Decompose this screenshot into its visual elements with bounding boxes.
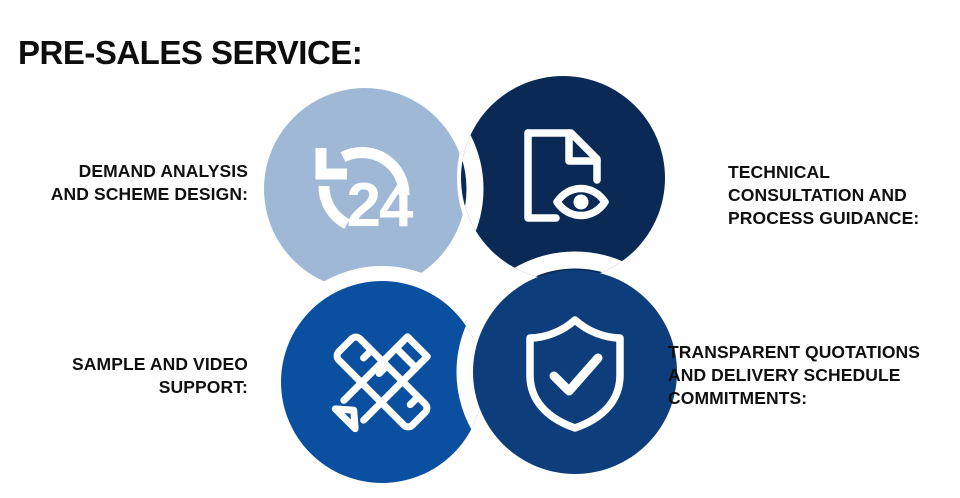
circle-transparent-quotations-shape [473, 270, 677, 474]
circle-transparent-quotations[interactable] [473, 270, 677, 474]
svg-text:24: 24 [347, 171, 414, 240]
label-transparent-quotations: TRANSPARENT QUOTATIONS AND DELIVERY SCHE… [668, 341, 960, 410]
label-technical-consultation: TECHNICAL CONSULTATION AND PROCESS GUIDA… [728, 161, 960, 230]
label-sample-video-support: SAMPLE AND VIDEO SUPPORT: [0, 353, 248, 399]
circle-sample-video-support-shape [281, 281, 483, 483]
four-circle-diagram: 24 [0, 0, 960, 498]
circle-technical-consultation-shape [461, 76, 665, 280]
label-demand-analysis: DEMAND ANALYSIS AND SCHEME DESIGN: [0, 160, 248, 206]
